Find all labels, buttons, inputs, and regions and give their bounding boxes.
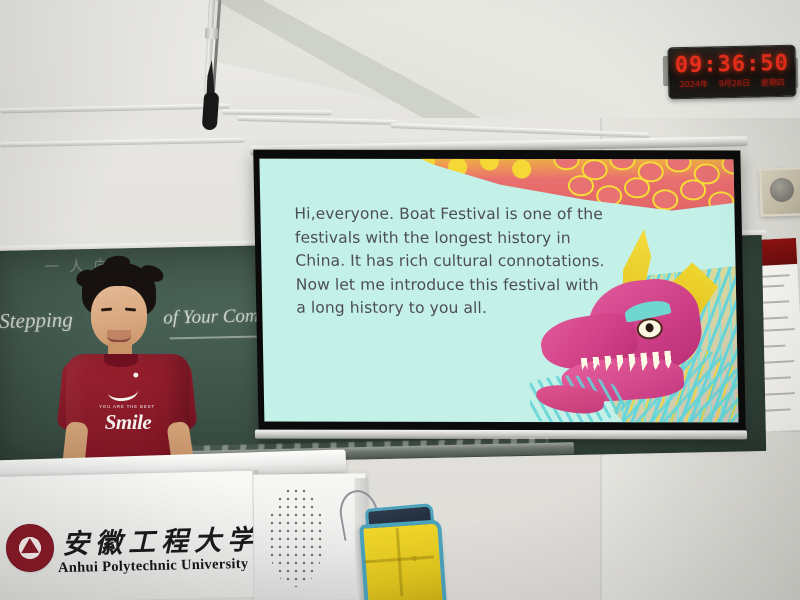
- dragon-scale: [609, 159, 635, 171]
- wall-speaker-icon: [759, 167, 800, 217]
- dragon-scale: [624, 177, 650, 198]
- dragon-scale: [553, 159, 579, 171]
- poster-text-line: [759, 328, 795, 332]
- clock-date-display: 2024年 9月26日 星期四: [669, 77, 795, 91]
- hanging-microphone-icon: [202, 92, 220, 131]
- speaker-grille: [268, 487, 324, 587]
- poster-text-line: [762, 392, 795, 396]
- presenter: YOU ARE THE BEST Smile: [60, 262, 210, 477]
- slide-text-line-3: China. It has rich cultural connotations…: [295, 250, 636, 274]
- dragon-scale: [665, 159, 691, 173]
- projection-screen[interactable]: Hi,everyone. Boat Festival is one of the…: [253, 150, 746, 436]
- dragon-scale: [708, 191, 734, 212]
- tshirt-main-text: Smile: [94, 410, 162, 435]
- digital-wall-clock: 09:36:50 2024年 9月26日 星期四: [667, 45, 796, 100]
- presenter-collar: [104, 354, 138, 367]
- clock-date: 9月26日: [719, 78, 751, 90]
- poster-text-line: [763, 408, 791, 411]
- presentation-slide: Hi,everyone. Boat Festival is one of the…: [259, 159, 738, 423]
- slide-text-line-2: festivals with the longest history in: [295, 226, 636, 250]
- ceiling-conduit-pipe: [222, 110, 332, 116]
- university-name-chinese: 安徽工程大学: [62, 518, 261, 562]
- dragon-scale: [568, 175, 594, 196]
- dragon-scale: [652, 189, 678, 210]
- slide-text-line-1: Hi,everyone. Boat Festival is one of the: [294, 203, 635, 227]
- backpack-stud: [412, 556, 417, 561]
- seal-inner-ring: [14, 532, 49, 567]
- clock-year: 2024年: [680, 79, 709, 91]
- clock-time-display: 09:36:50: [669, 51, 795, 79]
- slide-text-line-5: a long history to you all.: [296, 297, 637, 321]
- poster-text-line: [761, 376, 791, 380]
- poster-text-line: [760, 360, 794, 364]
- slide-text-line-4: Now let me introduce this festival with: [296, 273, 637, 297]
- dragon-scale: [680, 179, 706, 200]
- tshirt-subtext: YOU ARE THE BEST: [96, 404, 158, 409]
- slide-body-text: Hi,everyone. Boat Festival is one of the…: [294, 203, 636, 321]
- clock-weekday: 星期四: [761, 77, 785, 89]
- pole-collar: [205, 28, 219, 40]
- classroom-photo: 09:36:50 2024年 9月26日 星期四 一 人 向 Stepping …: [0, 0, 800, 600]
